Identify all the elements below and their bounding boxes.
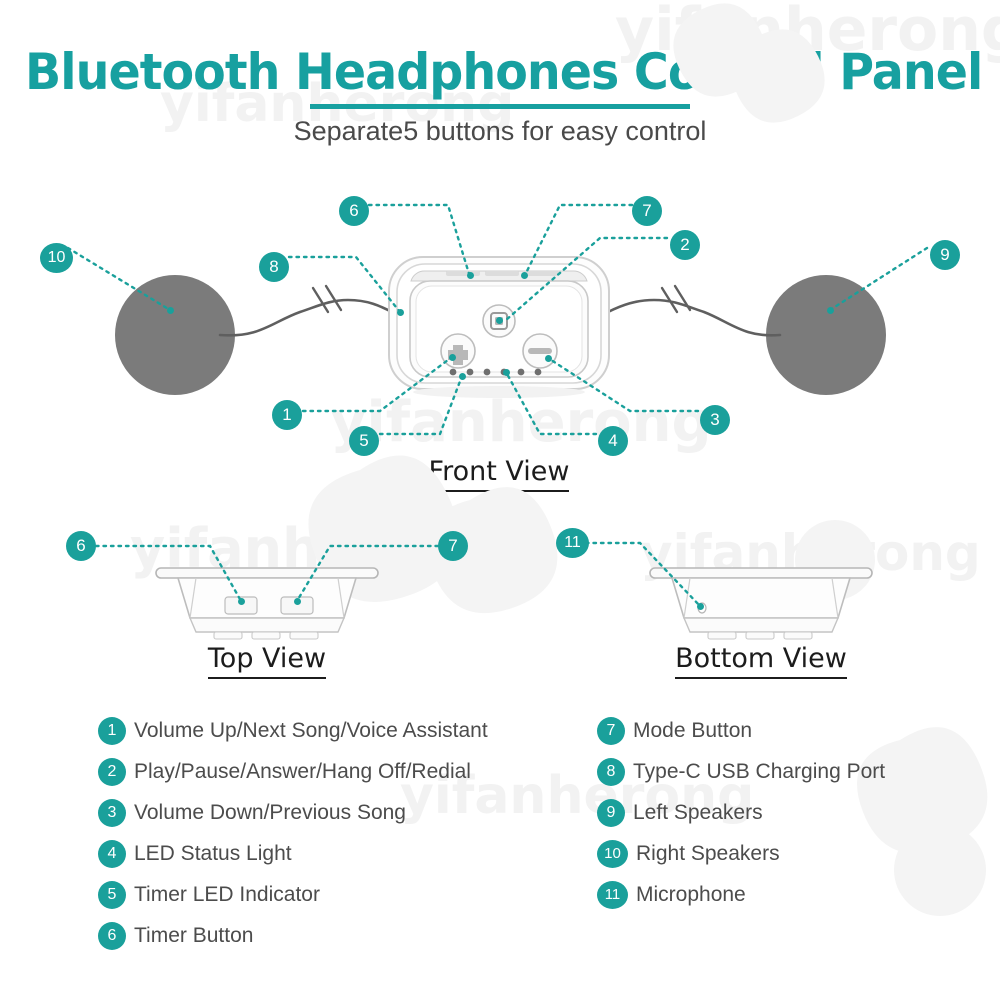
anchor-usb-port xyxy=(397,309,404,316)
legend-item-2: 2 Play/Pause/Answer/Hang Off/Redial xyxy=(98,751,488,792)
callout-badge-3[interactable]: 3 xyxy=(700,405,730,435)
legend-label-5: Timer LED Indicator xyxy=(134,883,320,907)
anchor-timer-button-top xyxy=(467,272,474,279)
legend-label-7: Mode Button xyxy=(633,719,752,743)
legend-item-7: 7 Mode Button xyxy=(597,710,885,751)
anchor-right-speaker xyxy=(167,307,174,314)
callout-badge-10[interactable]: 10 xyxy=(40,243,73,273)
callout-badge-9[interactable]: 9 xyxy=(930,240,960,270)
legend-item-5: 5 Timer LED Indicator xyxy=(98,874,488,915)
anchor-top-view-m xyxy=(294,598,301,605)
anchor-timer-led xyxy=(459,373,466,380)
callout-badge-7-top-view[interactable]: 7 xyxy=(438,531,468,561)
legend-badge-1: 1 xyxy=(98,717,126,745)
callout-badge-6[interactable]: 6 xyxy=(339,196,369,226)
callout-badge-5[interactable]: 5 xyxy=(349,426,379,456)
legend-badge-11: 11 xyxy=(597,881,628,909)
callout-badge-4[interactable]: 4 xyxy=(598,426,628,456)
legend-label-10: Right Speakers xyxy=(636,842,780,866)
callout-badge-2[interactable]: 2 xyxy=(670,230,700,260)
legend-label-8: Type-C USB Charging Port xyxy=(633,760,885,784)
anchor-center-button xyxy=(496,317,503,324)
legend-badge-9: 9 xyxy=(597,799,625,827)
legend-label-1: Volume Up/Next Song/Voice Assistant xyxy=(134,719,488,743)
legend-badge-8: 8 xyxy=(597,758,625,786)
legend-item-9: 9 Left Speakers xyxy=(597,792,885,833)
diagram-canvas: yifanherong yifanherong yifanherong yifa… xyxy=(0,0,1000,1000)
callout-badge-8[interactable]: 8 xyxy=(259,252,289,282)
anchor-plus-button xyxy=(449,354,456,361)
legend-badge-7: 7 xyxy=(597,717,625,745)
legend-label-3: Volume Down/Previous Song xyxy=(134,801,406,825)
legend-badge-6: 6 xyxy=(98,922,126,950)
legend-badge-4: 4 xyxy=(98,840,126,868)
callout-badge-1[interactable]: 1 xyxy=(272,400,302,430)
legend-label-4: LED Status Light xyxy=(134,842,292,866)
legend-left-column: 1 Volume Up/Next Song/Voice Assistant 2 … xyxy=(98,710,488,956)
callout-badge-11[interactable]: 11 xyxy=(556,528,589,558)
legend-item-3: 3 Volume Down/Previous Song xyxy=(98,792,488,833)
legend-item-1: 1 Volume Up/Next Song/Voice Assistant xyxy=(98,710,488,751)
legend-label-6: Timer Button xyxy=(134,924,253,948)
legend-label-2: Play/Pause/Answer/Hang Off/Redial xyxy=(134,760,471,784)
legend-badge-5: 5 xyxy=(98,881,126,909)
callout-badge-6-top-view[interactable]: 6 xyxy=(66,531,96,561)
anchor-mode-button-top xyxy=(521,272,528,279)
legend-item-8: 8 Type-C USB Charging Port xyxy=(597,751,885,792)
anchor-left-speaker xyxy=(827,307,834,314)
legend-badge-3: 3 xyxy=(98,799,126,827)
legend-badge-2: 2 xyxy=(98,758,126,786)
anchor-led-status xyxy=(503,369,510,376)
callout-badge-7[interactable]: 7 xyxy=(632,196,662,226)
legend-label-9: Left Speakers xyxy=(633,801,763,825)
anchor-microphone xyxy=(697,603,704,610)
legend-right-column: 7 Mode Button 8 Type-C USB Charging Port… xyxy=(597,710,885,915)
anchor-minus-button xyxy=(545,355,552,362)
legend-item-6: 6 Timer Button xyxy=(98,915,488,956)
legend-label-11: Microphone xyxy=(636,883,746,907)
legend-item-11: 11 Microphone xyxy=(597,874,885,915)
legend-item-4: 4 LED Status Light xyxy=(98,833,488,874)
legend-badge-10: 10 xyxy=(597,840,628,868)
anchor-top-view-t xyxy=(238,598,245,605)
legend-item-10: 10 Right Speakers xyxy=(597,833,885,874)
